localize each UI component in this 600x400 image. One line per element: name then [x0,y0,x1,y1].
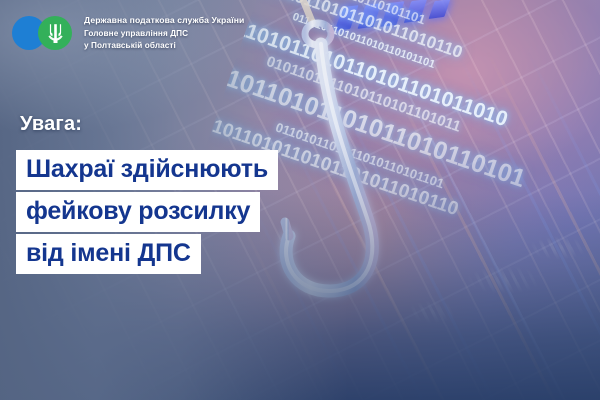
headline-line-3: від імені ДПС [16,234,201,274]
org-name-line3: у Полтавській області [84,40,244,51]
headline-line-1: Шахраї здійснюють [16,150,278,190]
headline-block: Шахраї здійснюютьфейкову розсилкувід іме… [16,150,278,274]
headline-line-2: фейкову розсилку [16,192,260,232]
attention-label: Увага: [20,113,82,136]
org-name-line2: Головне управління ДПС [84,28,244,39]
tax-service-logo [12,14,76,52]
phishing-warning-banner: 0101101011010110101101101101011010110101… [0,0,600,400]
ukraine-trident-icon [46,23,65,44]
organization-text: Державна податкова служба України Головн… [84,15,244,50]
logo-green-circle [38,16,72,50]
org-name-line1: Державна податкова служба України [84,15,244,25]
organization-header: Державна податкова служба України Головн… [12,14,244,52]
